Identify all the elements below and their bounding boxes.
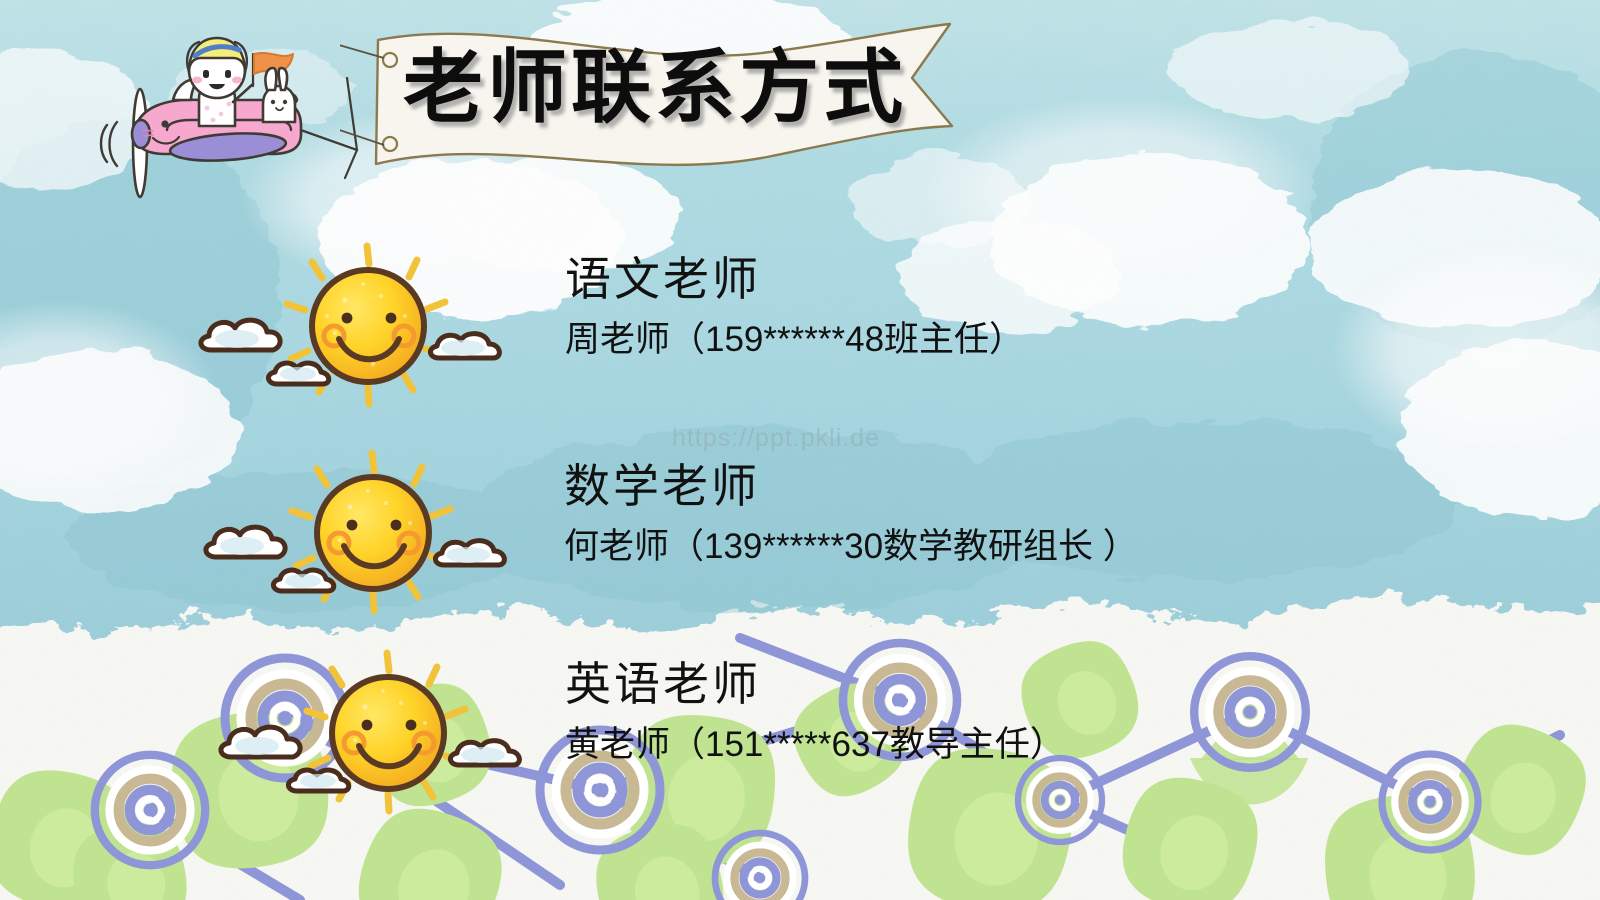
contact-subject: 语文老师 [565, 254, 1024, 306]
contact-subject: 英语老师 [565, 659, 1065, 711]
slide-canvas: 老师联系方式 [0, 0, 1600, 900]
contact-text-block: 英语老师 黄老师（151*****637教导主任） [565, 645, 1065, 765]
contact-detail: 何老师（139******30数学教研组长 ） [564, 527, 1138, 567]
contact-row: 数学老师 何老师（139******30数学教研组长 ） [200, 445, 1138, 620]
contact-text-block: 语文老师 周老师（159******48班主任） [565, 238, 1024, 360]
smiling-sun-icon [215, 645, 565, 820]
smiling-sun-icon [200, 445, 550, 620]
contact-subject: 数学老师 [564, 461, 1138, 513]
title-banner: 老师联系方式 [340, 18, 970, 186]
contact-text-block: 数学老师 何老师（139******30数学教研组长 ） [564, 445, 1138, 567]
contact-detail: 黄老师（151*****637教导主任） [565, 725, 1065, 765]
contact-row: 语文老师 周老师（159******48班主任） [195, 238, 1024, 413]
smiling-sun-icon [195, 238, 545, 413]
contact-detail: 周老师（159******48班主任） [565, 320, 1024, 360]
contact-row: 英语老师 黄老师（151*****637教导主任） [215, 645, 1065, 820]
watermark-text: https://ppt.pkli.de [672, 424, 880, 453]
page-title: 老师联系方式 [340, 48, 970, 128]
